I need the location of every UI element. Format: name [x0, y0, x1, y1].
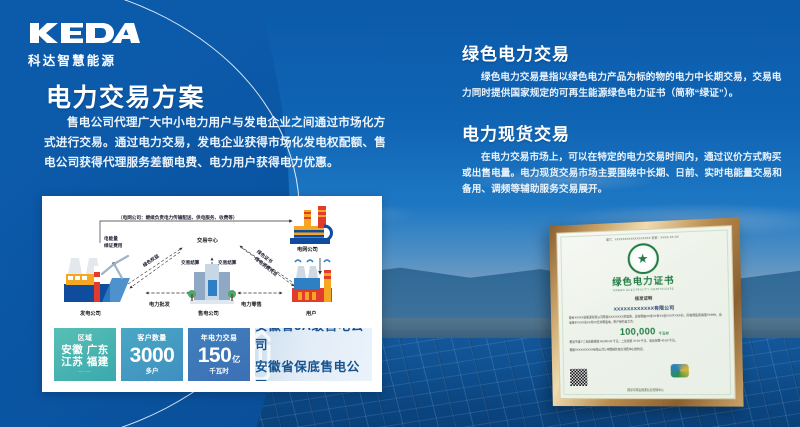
stat-annual-value: 150 [198, 344, 232, 367]
slide-canvas: 科达智慧能源 电力交易方案 售电公司代理广大中小电力用户与发电企业之间通过市场化… [0, 0, 800, 427]
diagram-node-generator: 发电公司 [80, 310, 101, 317]
green-certificate: 编号：XXXXXXXXXXXXXXXXXX 金额：XXXX-XX-XX 绿色电力… [556, 225, 736, 399]
stat-annual-volume: 年电力交易 150 亿 千瓦时 [188, 328, 250, 381]
stat-region-line-2: 江苏 福建 [61, 356, 108, 368]
diagram-settle-left: 交易结算 [181, 260, 199, 266]
certificate-amount-unit: 千瓦时 [659, 331, 670, 335]
stat-annual-caption: 年电力交易 [201, 334, 238, 344]
certificate-paragraph-2: 相当于减少二氧化碳排放 49,000.00 千克，二氧化硫 47.00 千克、氮… [566, 339, 725, 346]
diagram-node-user: 用户 [306, 310, 316, 317]
stat-customers-unit: 多户 [146, 367, 159, 376]
certificate-footer: 国家可再生能源信息管理中心 [560, 388, 734, 392]
green-certificate-frame: 编号：XXXXXXXXXXXXXXXXXX 金额：XXXX-XX-XX 绿色电力… [549, 217, 743, 406]
diagram-retail: 电力零售 [241, 301, 262, 308]
stat-region-caption: 区域 [78, 334, 93, 344]
stat-annual-suffix: 亿 [232, 354, 240, 365]
diagram-settle-right: 交易结算 [218, 260, 236, 266]
section-body-green-power: 绿色电力交易是指以绿色电力产品为标的物的电力中长期交易，交易电力同时提供国家规定… [462, 70, 782, 102]
keda-wordmark-icon [28, 22, 140, 44]
certificate-top-note: 编号：XXXXXXXXXXXXXXXXXX 金额：XXXX-XX-XX [564, 233, 723, 244]
diagram-fee-note-1: 电能量 [104, 236, 118, 242]
certificate-seal-icon [627, 243, 659, 275]
page-description: 售电公司代理广大中小电力用户与发电企业之间通过市场化方式进行交易。通过电力交易，… [44, 113, 394, 173]
badge-line-2: 安徽省保底售电公司 [255, 356, 372, 381]
certificate-title-en: GREEN ELECTRICITY CERTIFICATE [565, 286, 724, 293]
qualification-badge: KEDA 安徽省3A级售电公司 安徽省保底售电公司 [255, 328, 372, 381]
certificate-subtitle: 核发证明 [566, 293, 725, 303]
stat-region-line-1: 安徽 广东 [61, 344, 108, 356]
brand-name: 科达智慧能源 [28, 50, 158, 69]
certificate-amount: 100,000 [620, 326, 656, 337]
section-body-spot-trading: 在电力交易市场上，可以在特定的电力交易时间内，通过议价方式购买或出售电量。电力现… [462, 150, 784, 198]
certificate-paragraph-1: 兹有XXXXX新能源有限公司所属XXXXXXXX风电场，该电场由XX省XX市XX… [566, 313, 725, 326]
stat-annual-unit: 千瓦时 [209, 367, 229, 376]
diagram-node-grid: 电网公司 [297, 246, 318, 253]
stat-customers-value: 3000 [130, 344, 175, 367]
stat-customers-caption: 客户数量 [137, 334, 166, 344]
stat-region-dots: …… [78, 368, 92, 375]
diagram-center-label: 交易中心 [197, 237, 218, 244]
icon-generator [64, 256, 130, 302]
brand-logo: 科达智慧能源 [28, 22, 158, 64]
diagram-top-note: （电网公司：继续负责电力传输配送、供电服务、收费等） [118, 215, 237, 221]
badge-line-1: 安徽省3A级售电公司 [255, 328, 372, 353]
diagram-wholesale: 电力批发 [149, 301, 170, 308]
certificate-qr-code-icon [570, 369, 587, 386]
section-heading-spot-trading: 电力现货交易 [462, 120, 570, 145]
icon-grid-company [290, 206, 332, 244]
stat-region: 区域 安徽 广东 江苏 福建 …… [54, 328, 116, 381]
diagram-node-retailer: 售电公司 [198, 310, 219, 317]
certificate-amount-row: 100,000 千瓦时 [566, 325, 725, 338]
section-heading-green-power: 绿色电力交易 [462, 40, 570, 65]
certificate-issuer-logo-icon [671, 364, 689, 378]
certificate-paragraph-3: 根据XXXXXXXXXX有限公司与中国绿色电力消费中心的约定。 [567, 347, 726, 354]
certificate-title: 绿色电力证书 [565, 274, 724, 290]
page-title: 电力交易方案 [46, 78, 205, 114]
icon-user [292, 260, 332, 302]
power-trading-diagram: （电网公司：继续负责电力传输配送、供电服务、收费等） 电能量 绿证费用 交易中心… [42, 196, 382, 324]
diagram-card: （电网公司：继续负责电力传输配送、供电服务、收费等） 电能量 绿证费用 交易中心… [42, 196, 382, 392]
certificate-org: XXXXXXXXXXXX有限公司 [566, 304, 725, 314]
stats-strip: 区域 安徽 广东 江苏 福建 …… 客户数量 3000 多户 年电力交易 150… [54, 328, 372, 381]
stat-customers: 客户数量 3000 多户 [121, 328, 183, 381]
icon-retailer [188, 264, 236, 304]
diagram-fee-note-2: 绿证费用 [104, 243, 122, 249]
